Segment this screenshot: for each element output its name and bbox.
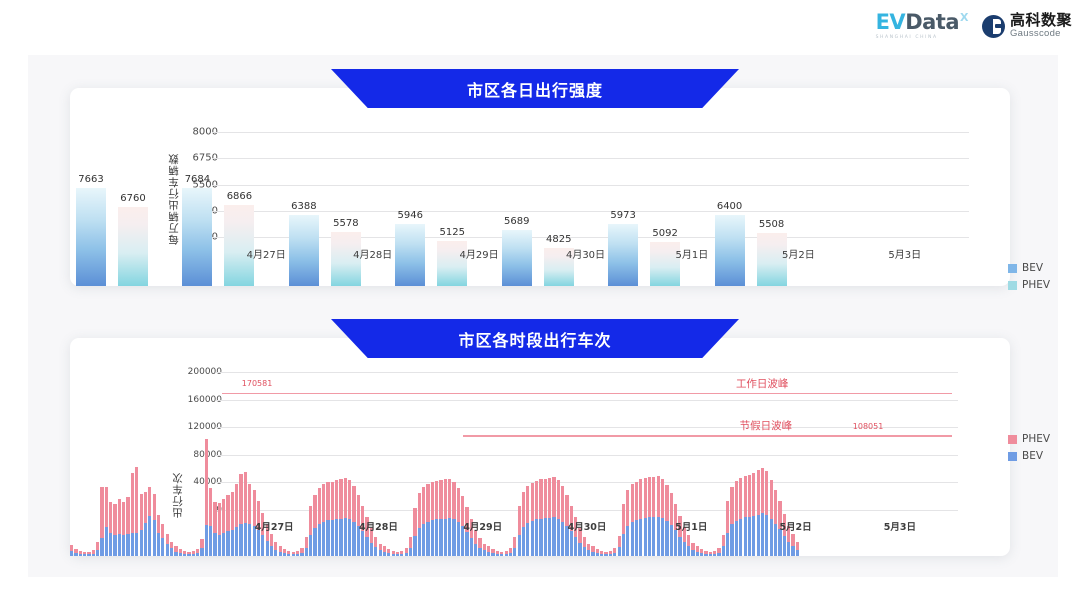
chart1-legend-label: BEV [1022, 262, 1043, 274]
chart2-stacked-bar[interactable] [591, 546, 594, 556]
chart2-stacked-bar[interactable] [344, 478, 347, 556]
chart2-stacked-bar[interactable] [548, 478, 551, 556]
chart2-stacked-bar[interactable] [644, 478, 647, 556]
chart2-bar-segment-phev [83, 552, 86, 554]
chart2-bar-segment-phev [726, 501, 729, 533]
chart2-bar-segment-bev [774, 524, 777, 556]
chart2-stacked-bar[interactable] [452, 481, 455, 556]
chart2-stacked-bar[interactable] [552, 477, 555, 556]
chart2-stacked-bar[interactable] [135, 467, 138, 556]
chart2-stacked-bar[interactable] [296, 551, 299, 556]
chart2-bar-segment-bev [557, 519, 560, 556]
chart2-stacked-bar[interactable] [174, 546, 177, 556]
evdata-logo-data: Data [905, 10, 959, 34]
chart2-stacked-bar[interactable] [435, 481, 438, 556]
chart2-bar-segment-bev [279, 552, 282, 556]
chart2-bar-segment-bev [422, 524, 425, 556]
chart2-stacked-bar[interactable] [313, 495, 316, 556]
chart2-stacked-bar[interactable] [600, 551, 603, 556]
chart2-stacked-bar[interactable] [431, 482, 434, 556]
chart2-stacked-bar[interactable] [618, 536, 621, 556]
chart1-bar-bev[interactable]: 5946 [395, 224, 425, 286]
chart2-stacked-bar[interactable] [761, 468, 764, 556]
chart2-stacked-bar[interactable] [483, 544, 486, 556]
chart2-bar-segment-bev [539, 519, 542, 556]
chart2-stacked-bar[interactable] [639, 479, 642, 556]
chart2-stacked-bar[interactable] [161, 524, 164, 556]
chart2-bar-segment-phev [713, 551, 716, 554]
chart2-stacked-bar[interactable] [122, 502, 125, 557]
chart2-stacked-bar[interactable] [339, 479, 342, 556]
chart2-bar-segment-phev [691, 543, 694, 550]
chart2-stacked-bar[interactable] [709, 552, 712, 556]
chart2-stacked-bar[interactable] [496, 551, 499, 556]
chart2-stacked-bar[interactable] [387, 549, 390, 556]
chart2-stacked-bar[interactable] [609, 551, 612, 556]
chart2-stacked-bar[interactable] [405, 548, 408, 556]
chart2-stacked-bar[interactable] [292, 552, 295, 556]
chart2-stacked-bar[interactable] [92, 550, 95, 556]
chart2-bar-segment-bev [322, 522, 325, 557]
chart2-stacked-bar[interactable] [696, 546, 699, 556]
chart2-stacked-bar[interactable] [670, 493, 673, 556]
chart2-stacked-bar[interactable] [513, 537, 516, 556]
gausscode-mark-icon [982, 15, 1005, 38]
chart2-bar-segment-phev [387, 549, 390, 553]
chart2-bar-segment-bev [465, 532, 468, 556]
chart2-stacked-bar[interactable] [635, 481, 638, 556]
chart2-stacked-bar[interactable] [226, 495, 229, 556]
chart2-stacked-bar[interactable] [770, 480, 773, 556]
chart2-stacked-bar[interactable] [326, 482, 329, 556]
chart2-legend-item[interactable]: PHEV [1008, 433, 1050, 445]
chart2-stacked-bar[interactable] [757, 470, 760, 556]
chart2-stacked-bar[interactable] [613, 548, 616, 556]
chart2-x-tick: 4月30日 [568, 519, 607, 533]
chart2-bar-segment-phev [344, 478, 347, 518]
chart2-stacked-bar[interactable] [622, 504, 625, 556]
chart2-stacked-bar[interactable] [248, 484, 251, 556]
chart2-stacked-bar[interactable] [144, 492, 147, 556]
chart2-bar-segment-bev [444, 519, 447, 556]
chart2-stacked-bar[interactable] [730, 487, 733, 556]
chart2-stacked-bar[interactable] [752, 473, 755, 556]
chart2-stacked-bar[interactable] [83, 552, 86, 556]
chart2-stacked-bar[interactable] [305, 537, 308, 556]
chart2-stacked-bar[interactable] [561, 486, 564, 556]
chart2-bar-segment-phev [583, 537, 586, 547]
chart2-stacked-bar[interactable] [379, 544, 382, 556]
chart2-stacked-bar[interactable] [522, 492, 525, 556]
chart2-bar-segment-bev [179, 553, 182, 556]
chart2-stacked-bar[interactable] [583, 537, 586, 556]
chart2-stacked-bar[interactable] [626, 490, 629, 556]
chart2-stacked-bar[interactable] [687, 535, 690, 556]
chart2-stacked-bar[interactable] [192, 551, 195, 556]
chart2-stacked-bar[interactable] [717, 548, 720, 556]
chart2-stacked-bar[interactable] [148, 487, 151, 556]
chart2-bar-segment-phev [757, 470, 760, 514]
chart2-bar-segment-phev [426, 484, 429, 521]
chart2-bar-segment-phev [87, 552, 90, 554]
chart2-stacked-bar[interactable] [222, 499, 225, 556]
chart2-bar-segment-phev [118, 499, 121, 534]
chart2-stacked-bar[interactable] [765, 471, 768, 556]
chart2-stacked-bar[interactable] [200, 539, 203, 556]
chart2-x-tick: 5月3日 [884, 519, 916, 533]
chart2-bar-segment-phev [631, 484, 634, 522]
chart2-bar-segment-phev [339, 479, 342, 519]
chart2-bar-segment-phev [552, 477, 555, 517]
chart2-stacked-bar[interactable] [96, 542, 99, 556]
chart2-bar-segment-bev [140, 530, 143, 556]
chart2-bar-segment-bev [118, 534, 121, 556]
chart2-bar-segment-bev [778, 529, 781, 556]
chart2-bar-segment-phev [483, 544, 486, 551]
chart2-bar-segment-bev [226, 531, 229, 556]
chart2-stacked-bar[interactable] [648, 477, 651, 556]
chart2-bar-segment-phev [379, 544, 382, 551]
chart2-bar-segment-phev [218, 503, 221, 535]
chart2-stacked-bar[interactable] [131, 473, 134, 556]
chart2-bar-segment-bev [635, 520, 638, 556]
chart1-bar-bev[interactable]: 7684 [182, 188, 212, 286]
chart2-bar-segment-bev [222, 533, 225, 556]
chart2-bar-segment-bev [387, 553, 390, 556]
chart2-stacked-bar[interactable] [691, 543, 694, 556]
chart2-stacked-bar[interactable] [422, 487, 425, 556]
chart1-bar-value-label: 7663 [78, 174, 103, 185]
chart2-bar-segment-bev [257, 530, 260, 556]
chart2-stacked-bar[interactable] [157, 515, 160, 556]
chart2-stacked-bar[interactable] [109, 502, 112, 556]
chart2-stacked-bar[interactable] [270, 534, 273, 556]
chart2-bar-segment-bev [205, 525, 208, 556]
chart2-stacked-bar[interactable] [283, 549, 286, 556]
chart2-stacked-bar[interactable] [722, 535, 725, 556]
gausscode-logo-cn: 高科数聚 [1010, 13, 1072, 29]
chart2-bar-segment-bev [209, 526, 212, 556]
chart1-bar-bev[interactable]: 6388 [289, 215, 319, 286]
chart2-annotation-label: 节假日波峰 [740, 418, 793, 433]
chart1-bar-phev[interactable]: 6760 [118, 207, 148, 286]
chart2-stacked-bar[interactable] [209, 488, 212, 556]
chart2-stacked-bar[interactable] [739, 478, 742, 556]
chart2-stacked-bar[interactable] [118, 499, 121, 556]
chart2-legend-swatch [1008, 452, 1017, 461]
chart2-bar-segment-phev [79, 551, 82, 554]
chart2-stacked-bar[interactable] [392, 551, 395, 556]
chart2-stacked-bar[interactable] [478, 538, 481, 556]
chart2-stacked-bar[interactable] [413, 508, 416, 556]
chart2-stacked-bar[interactable] [213, 502, 216, 556]
chart1-legend-swatch [1008, 281, 1017, 290]
chart2-stacked-bar[interactable] [661, 479, 664, 556]
chart2-bar-segment-phev [183, 551, 186, 554]
chart2-stacked-bar[interactable] [657, 476, 660, 556]
chart-card-daily-intensity: 每万辆出行车辆数 30004250550067508000 7663676076… [70, 88, 1010, 286]
chart1-bar-bev[interactable]: 7663 [76, 188, 106, 286]
chart2-stacked-bar[interactable] [596, 549, 599, 556]
chart2-bar-segment-phev [352, 486, 355, 521]
chart2-stacked-bar[interactable] [400, 551, 403, 556]
chart2-x-tick: 5月1日 [675, 519, 707, 533]
chart2-stacked-bar[interactable] [179, 549, 182, 556]
chart1-x-tick: 5月3日 [888, 246, 921, 261]
chart2-stacked-bar[interactable] [518, 506, 521, 556]
chart2-stacked-bar[interactable] [396, 552, 399, 556]
chart2-bar-segment-bev [665, 521, 668, 556]
chart2-stacked-bar[interactable] [587, 544, 590, 556]
chart2-stacked-bar[interactable] [539, 479, 542, 556]
chart2-bar-segment-bev [266, 541, 269, 556]
chart2-gridline [216, 400, 958, 401]
section-title-hourly-trips: 市区各时段出行车次 [458, 327, 611, 351]
chart2-bar-segment-bev [148, 516, 151, 556]
chart2-bar-segment-phev [318, 488, 321, 525]
chart2-stacked-bar[interactable] [383, 546, 386, 556]
chart2-bar-segment-phev [131, 473, 134, 533]
chart2-stacked-bar[interactable] [652, 477, 655, 556]
chart2-stacked-bar[interactable] [631, 484, 634, 556]
chart2-bar-segment-bev [174, 552, 177, 556]
chart2-stacked-bar[interactable] [713, 551, 716, 556]
chart2-bar-segment-bev [505, 554, 508, 556]
chart2-bar-segment-bev [170, 548, 173, 556]
chart2-bar-segment-bev [183, 554, 186, 556]
chart1-x-tick: 4月27日 [247, 246, 286, 261]
chart2-stacked-bar[interactable] [113, 504, 116, 556]
chart2-bar-segment-bev [361, 531, 364, 556]
chart2-bar-segment-bev [691, 550, 694, 556]
chart2-bar-segment-bev [409, 548, 412, 556]
chart2-stacked-bar[interactable] [183, 551, 186, 556]
chart2-stacked-bar[interactable] [235, 484, 238, 556]
chart2-bar-segment-phev [170, 542, 173, 548]
chart2-stacked-bar[interactable] [287, 551, 290, 556]
chart2-bar-segment-phev [161, 524, 164, 538]
chart2-bar-segment-bev [348, 519, 351, 556]
chart2-stacked-bar[interactable] [531, 483, 534, 556]
chart2-bar-segment-bev [631, 522, 634, 556]
chart2-stacked-bar[interactable] [791, 534, 794, 556]
chart2-stacked-bar[interactable] [448, 479, 451, 556]
chart1-bar-value-label: 5092 [652, 228, 677, 239]
chart2-bar-segment-phev [270, 534, 273, 546]
chart2-stacked-bar[interactable] [535, 481, 538, 556]
chart2-stacked-bar[interactable] [309, 506, 312, 556]
chart2-bar-segment-bev [326, 520, 329, 556]
chart2-stacked-bar[interactable] [126, 497, 129, 556]
chart2-stacked-bar[interactable] [318, 488, 321, 556]
chart2-bar-segment-bev [400, 554, 403, 556]
chart2-stacked-bar[interactable] [796, 542, 799, 556]
chart2-stacked-bar[interactable] [500, 552, 503, 556]
chart2-stacked-bar[interactable] [665, 485, 668, 556]
chart2-stacked-bar[interactable] [239, 474, 242, 556]
chart2-bar-segment-phev [626, 490, 629, 526]
chart2-stacked-bar[interactable] [505, 551, 508, 556]
chart2-stacked-bar[interactable] [140, 494, 143, 556]
chart2-bar-segment-bev [717, 553, 720, 556]
chart2-stacked-bar[interactable] [526, 486, 529, 556]
chart2-bar-segment-phev [174, 546, 177, 552]
chart2-stacked-bar[interactable] [374, 537, 377, 556]
chart2-bar-segment-phev [618, 536, 621, 547]
chart2-bar-segment-phev [796, 542, 799, 550]
chart2-bar-segment-bev [765, 515, 768, 556]
chart2-bar-segment-bev [470, 538, 473, 556]
chart2-bar-segment-bev [283, 553, 286, 556]
chart2-stacked-bar[interactable] [274, 542, 277, 556]
chart2-stacked-bar[interactable] [491, 549, 494, 556]
chart2-stacked-bar[interactable] [418, 493, 421, 556]
chart2-bar-segment-phev [244, 472, 247, 523]
chart2-bar-segment-phev [187, 552, 190, 554]
chart2-bar-segment-bev [531, 521, 534, 556]
chart1-bar-bev[interactable]: 6400 [715, 215, 745, 286]
chart2-bar-segment-phev [539, 479, 542, 518]
chart2-stacked-bar[interactable] [426, 484, 429, 556]
chart2-stacked-bar[interactable] [487, 546, 490, 556]
chart2-stacked-bar[interactable] [244, 472, 247, 556]
chart2-bar-segment-bev [526, 523, 529, 556]
chart2-stacked-bar[interactable] [231, 492, 234, 556]
chart2-peak-value-label: 170581 [242, 379, 273, 388]
chart1-bar-value-label: 5578 [333, 218, 358, 229]
chart2-stacked-bar[interactable] [457, 488, 460, 556]
chart2-bar-segment-phev [500, 552, 503, 554]
chart2-bar-segment-bev [552, 517, 555, 556]
chart2-stacked-bar[interactable] [509, 548, 512, 556]
chart2-bar-segment-bev [383, 552, 386, 556]
chart2-bar-segment-bev [74, 553, 77, 556]
chart2-stacked-bar[interactable] [218, 503, 221, 556]
chart2-bar-segment-phev [752, 473, 755, 516]
chart2-stacked-bar[interactable] [348, 480, 351, 556]
chart2-bar-segment-phev [635, 482, 638, 521]
chart2-bar-segment-bev [648, 517, 651, 556]
chart2-bar-segment-bev [609, 554, 612, 556]
chart2-bar-segment-phev [135, 467, 138, 533]
section-banner-daily-intensity: 市区各日出行强度 [331, 69, 739, 108]
chart2-stacked-bar[interactable] [726, 501, 729, 556]
chart2-stacked-bar[interactable] [335, 480, 338, 556]
chart2-stacked-bar[interactable] [735, 481, 738, 556]
chart2-bar-segment-phev [739, 478, 742, 519]
chart2-bar-segment-bev [722, 546, 725, 556]
chart2-bar-segment-phev [70, 545, 73, 551]
chart-hourly-trips: 出行车次 04000080000120000160000200000 4月27日… [70, 338, 1010, 556]
chart2-bar-segment-bev [296, 554, 299, 556]
chart2-bar-segment-bev [113, 535, 116, 556]
chart2-stacked-bar[interactable] [331, 481, 334, 556]
chart2-bar-segment-bev [587, 550, 590, 556]
chart2-bar-segment-phev [409, 537, 412, 547]
chart2-bar-segment-bev [696, 552, 699, 556]
chart2-x-tick: 4月29日 [463, 519, 502, 533]
chart2-stacked-bar[interactable] [74, 549, 77, 556]
chart2-stacked-bar[interactable] [205, 439, 208, 556]
chart2-bar-segment-phev [431, 482, 434, 520]
chart2-stacked-bar[interactable] [196, 549, 199, 556]
chart2-bar-segment-bev [287, 554, 290, 556]
chart2-bar-segment-bev [213, 533, 216, 556]
chart1-legend-item[interactable]: PHEV [1008, 279, 1050, 291]
chart2-stacked-bar[interactable] [322, 484, 325, 556]
chart1-bar-bev[interactable]: 5689 [502, 230, 532, 286]
chart2-stacked-bar[interactable] [87, 552, 90, 556]
chart2-bar-segment-phev [331, 482, 334, 521]
chart1-legend-label: PHEV [1022, 279, 1050, 291]
chart2-legend-item[interactable]: BEV [1008, 450, 1050, 462]
chart2-stacked-bar[interactable] [557, 480, 560, 556]
chart2-stacked-bar[interactable] [153, 494, 156, 556]
chart2-bar-segment-bev [192, 554, 195, 556]
chart2-bar-segment-bev [674, 530, 677, 556]
chart2-bar-segment-phev [279, 546, 282, 552]
chart2-bar-segment-phev [400, 551, 403, 554]
chart2-bar-segment-phev [383, 546, 386, 552]
chart2-bar-segment-phev [596, 549, 599, 553]
chart2-bar-segment-phev [604, 552, 607, 554]
chart2-stacked-bar[interactable] [700, 549, 703, 556]
chart2-stacked-bar[interactable] [409, 537, 412, 556]
chart2-stacked-bar[interactable] [170, 542, 173, 556]
chart1-bar-bev[interactable]: 5973 [608, 224, 638, 286]
slide-page: EVDataX SHANGHAI CHINA 高科数聚 Gausscode 市区… [0, 0, 1080, 608]
chart2-stacked-bar[interactable] [166, 534, 169, 556]
chart2-bar-segment-bev [787, 542, 790, 556]
chart2-stacked-bar[interactable] [774, 490, 777, 556]
chart2-x-tick: 4月27日 [255, 519, 294, 533]
chart2-stacked-bar[interactable] [439, 480, 442, 556]
chart1-legend-item[interactable]: BEV [1008, 262, 1050, 274]
chart2-stacked-bar[interactable] [352, 486, 355, 556]
chart2-bar-segment-phev [439, 480, 442, 519]
chart2-stacked-bar[interactable] [748, 475, 751, 556]
chart2-bar-segment-phev [448, 479, 451, 518]
chart2-bar-segment-bev [670, 525, 673, 556]
chart2-stacked-bar[interactable] [474, 530, 477, 556]
chart2-stacked-bar[interactable] [100, 487, 103, 556]
chart2-bar-segment-phev [791, 534, 794, 546]
chart2-stacked-bar[interactable] [444, 479, 447, 556]
chart2-annotation-line [463, 435, 952, 437]
chart2-stacked-bar[interactable] [604, 552, 607, 556]
chart2-stacked-bar[interactable] [744, 476, 747, 556]
chart2-stacked-bar[interactable] [544, 479, 547, 556]
chart2-legend-label: PHEV [1022, 433, 1050, 445]
chart2-stacked-bar[interactable] [279, 546, 282, 556]
chart2-bar-segment-bev [405, 553, 408, 556]
chart2-stacked-bar[interactable] [70, 545, 73, 556]
chart2-stacked-bar[interactable] [79, 551, 82, 556]
chart2-stacked-bar[interactable] [300, 548, 303, 556]
chart2-bar-segment-phev [309, 506, 312, 535]
chart2-stacked-bar[interactable] [704, 551, 707, 556]
chart2-bar-segment-bev [704, 554, 707, 556]
chart1-bar-value-label: 5508 [759, 219, 784, 230]
chart2-annotation-line [222, 393, 952, 395]
chart1-bar-value-label: 7684 [185, 174, 210, 185]
chart2-stacked-bar[interactable] [187, 552, 190, 556]
chart2-stacked-bar[interactable] [105, 487, 108, 556]
chart2-bar-segment-bev [700, 553, 703, 556]
chart1-bar-value-label: 6760 [120, 193, 145, 204]
chart2-bar-segment-bev [122, 535, 125, 556]
chart2-bar-segment-bev [261, 535, 264, 556]
